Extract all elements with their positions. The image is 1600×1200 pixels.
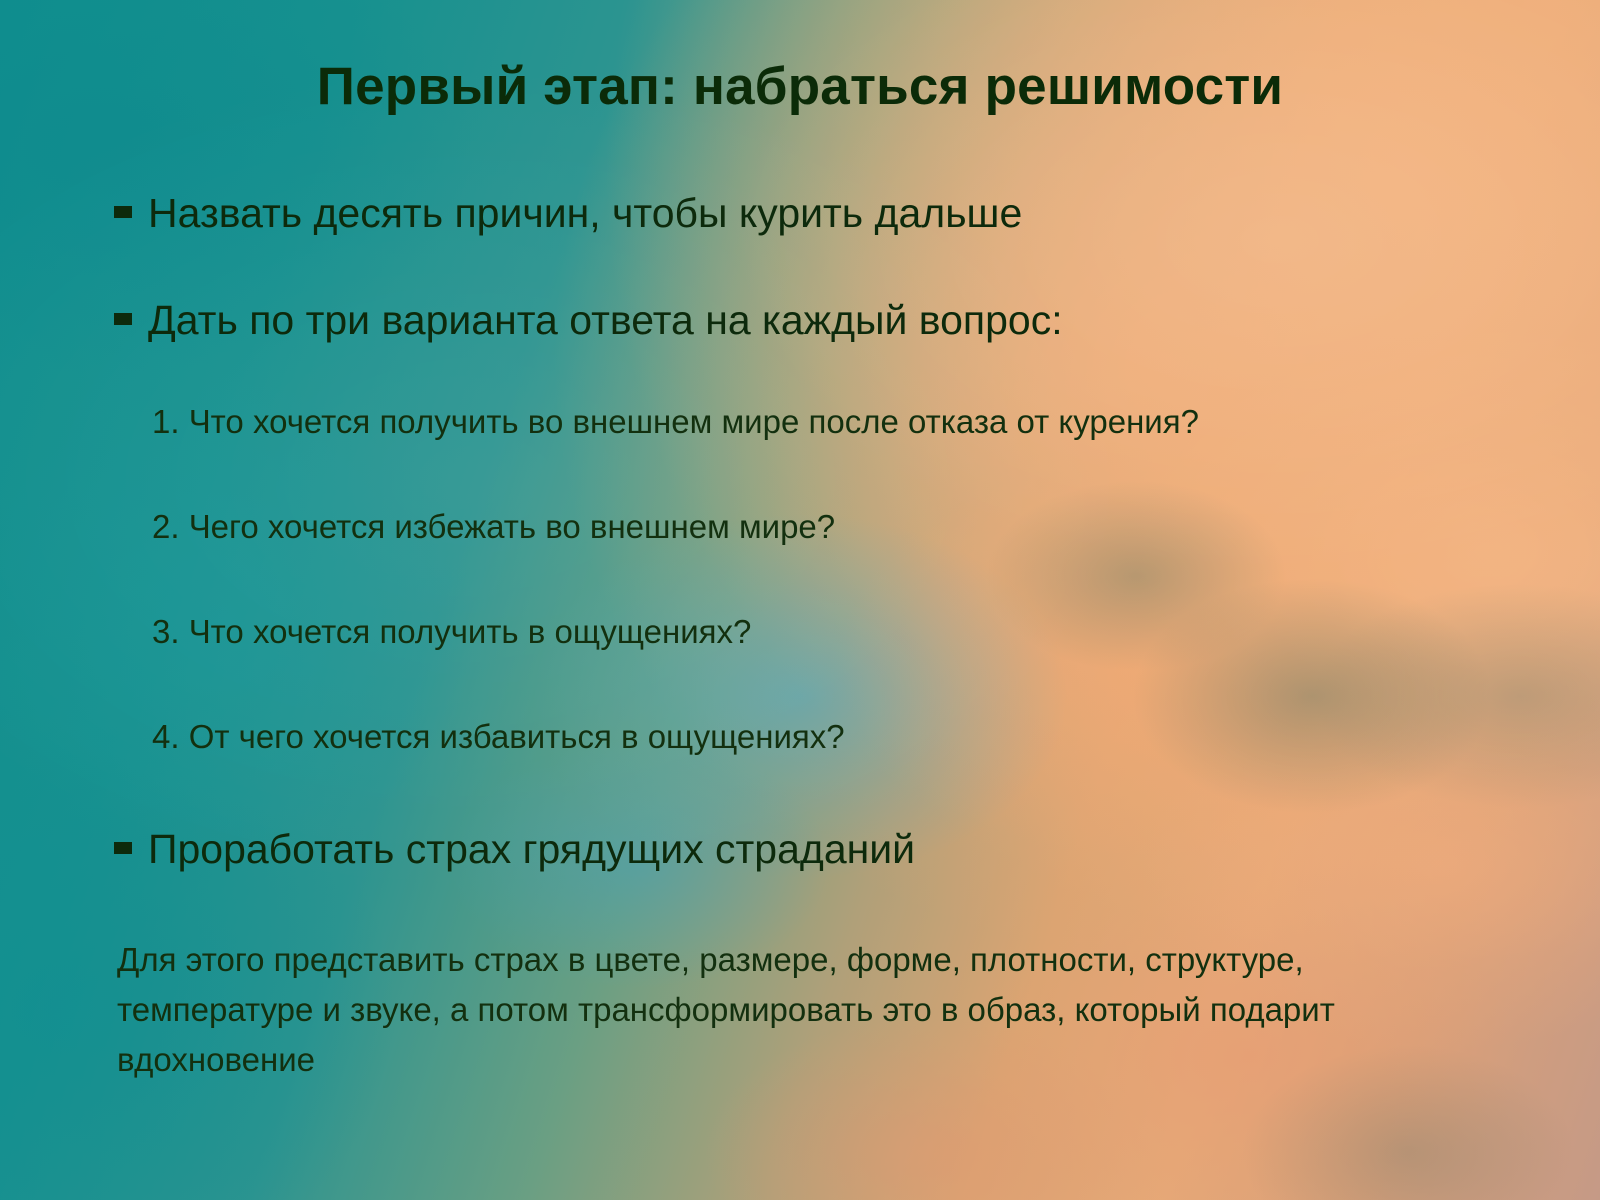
square-bullet-icon <box>114 206 132 218</box>
closing-paragraph: Для этого представить страх в цвете, раз… <box>117 935 1497 1085</box>
square-bullet-icon <box>114 842 132 854</box>
presentation-slide: Первый этап: набраться решимости Назвать… <box>0 0 1600 1200</box>
bullet-label-3: Проработать страх грядущих страданий <box>148 827 915 872</box>
slide-title: Первый этап: набраться решимости <box>0 56 1600 117</box>
square-bullet-icon <box>114 313 132 325</box>
question-item-4: 4. От чего хочется избавиться в ощущения… <box>152 718 845 756</box>
bullet-label-1: Назвать десять причин, чтобы курить даль… <box>148 191 1022 236</box>
slide-content: Первый этап: набраться решимости Назвать… <box>0 0 1600 1200</box>
bullet-item-3: Проработать страх грядущих страданий <box>114 827 915 872</box>
bullet-item-1: Назвать десять причин, чтобы курить даль… <box>114 191 1022 236</box>
bullet-item-2: Дать по три варианта ответа на каждый во… <box>114 298 1063 343</box>
question-item-1: 1. Что хочется получить во внешнем мире … <box>152 403 1199 441</box>
bullet-label-2: Дать по три варианта ответа на каждый во… <box>148 298 1063 343</box>
question-item-3: 3. Что хочется получить в ощущениях? <box>152 613 751 651</box>
question-item-2: 2. Чего хочется избежать во внешнем мире… <box>152 508 835 546</box>
